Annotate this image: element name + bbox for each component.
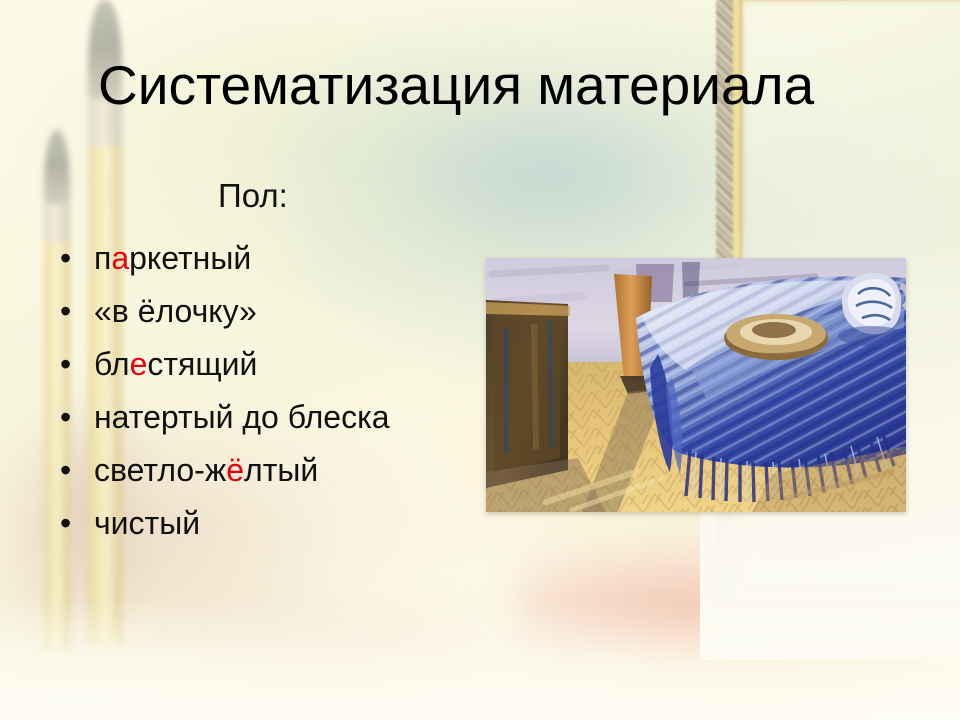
bullet-marker-icon: • — [60, 338, 71, 391]
list-item: •блестящий — [48, 338, 478, 391]
text-run: лтый — [244, 452, 318, 488]
list-item-label: натертый до блеска — [94, 399, 390, 435]
highlighted-letter: ё — [226, 452, 244, 488]
text-run: натертый до блеска — [94, 399, 390, 435]
list-item: •натертый до блеска — [48, 391, 478, 444]
painting-artwork — [486, 258, 906, 512]
background-wash-gold — [760, 500, 960, 690]
bullet-marker-icon: • — [60, 391, 71, 444]
text-run: светло-ж — [94, 452, 226, 488]
text-run: п — [94, 240, 111, 276]
slide-title: Систематизация материала — [98, 54, 888, 116]
background-wash-blue — [380, 95, 710, 245]
text-run: «в ёлочку» — [94, 293, 257, 329]
paintbrush-tip — [44, 130, 70, 208]
subheading-pol: Пол: — [218, 176, 288, 216]
text-run: чистый — [94, 505, 200, 541]
list-item-label: «в ёлочку» — [94, 293, 257, 329]
list-item-label: паркетный — [94, 240, 251, 276]
background-wash-pink-2 — [120, 600, 540, 720]
interior-painting-image — [486, 258, 906, 512]
list-item: •«в ёлочку» — [48, 285, 478, 338]
text-run: стящий — [147, 346, 257, 382]
highlighted-letter: а — [111, 240, 129, 276]
bullet-marker-icon: • — [60, 444, 71, 497]
presentation-slide: Систематизация материала Пол: •паркетный… — [0, 0, 960, 720]
text-run: бл — [94, 346, 130, 382]
list-item: •чистый — [48, 497, 478, 550]
background-bottom-fade — [0, 600, 960, 720]
background-wash-pink — [520, 540, 940, 700]
highlighted-letter: е — [130, 346, 148, 382]
bullet-marker-icon: • — [60, 497, 71, 550]
text-run: ркетный — [129, 240, 251, 276]
list-item-label: блестящий — [94, 346, 257, 382]
bullet-list: •паркетный•«в ёлочку»•блестящий•натертый… — [48, 232, 478, 550]
bullet-marker-icon: • — [60, 232, 71, 285]
list-item-label: чистый — [94, 505, 200, 541]
list-item: •паркетный — [48, 232, 478, 285]
background-wash-gold-2 — [600, 620, 900, 720]
bullet-marker-icon: • — [60, 285, 71, 338]
list-item: •светло-жёлтый — [48, 444, 478, 497]
list-item-label: светло-жёлтый — [94, 452, 318, 488]
